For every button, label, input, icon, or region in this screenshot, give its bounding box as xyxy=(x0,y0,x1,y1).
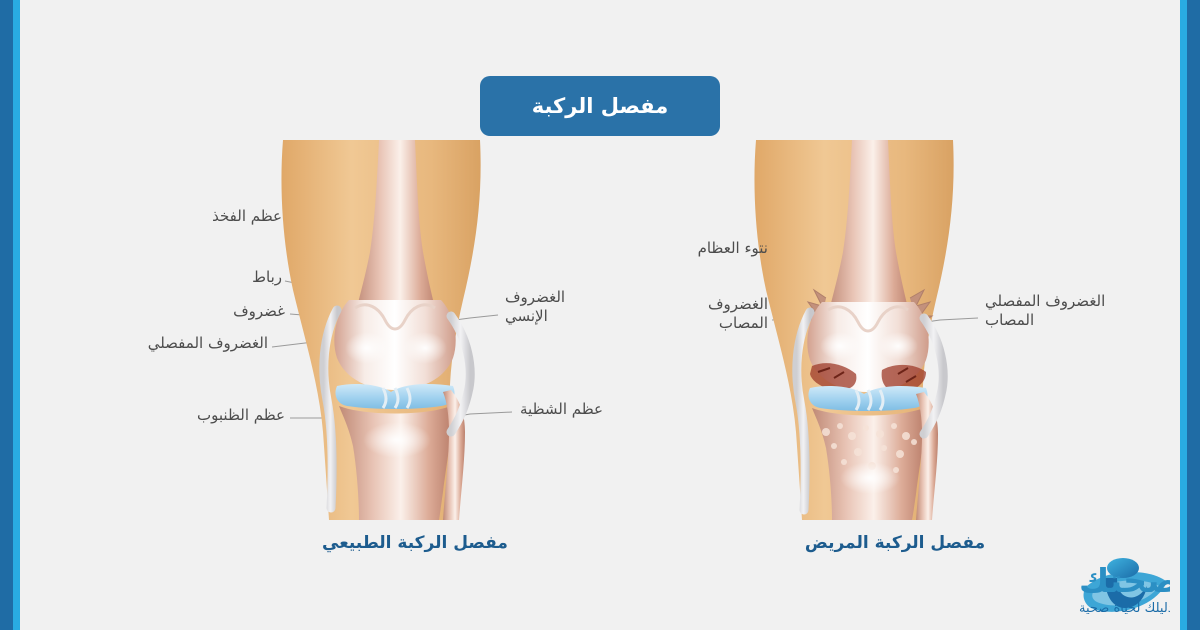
condyle-highlight-right xyxy=(403,332,447,364)
caption-normal-knee: مفصل الركبة الطبيعي xyxy=(265,533,565,553)
label-bone-spurs: نتوء العظام xyxy=(600,239,768,258)
label-tibia: عظم الظنبوب xyxy=(110,406,285,425)
page-title: مفصل الركبة xyxy=(480,76,720,136)
label-cartilage: غضروف xyxy=(110,302,285,321)
left-border-cyan xyxy=(13,0,20,630)
label-fibula: عظم الشظية xyxy=(520,400,660,419)
label-ligament: رباط xyxy=(110,268,282,287)
right-border-dark xyxy=(1187,0,1200,630)
label-femur: عظم الفخذ xyxy=(110,207,282,226)
caption-diseased-knee: مفصل الركبة المريض xyxy=(745,533,1045,553)
normal-knee-illustration xyxy=(275,140,515,520)
label-meniscus: الغضروف المفصلي xyxy=(80,334,268,353)
tibia-highlight xyxy=(840,462,900,494)
label-damaged-cartilage: الغضروف المصاب xyxy=(600,295,768,333)
label-damaged-meniscus: الغضروف المفصلي المصاب xyxy=(985,292,1145,330)
condyle-highlight-left xyxy=(345,332,389,364)
left-border-dark xyxy=(0,0,13,630)
diseased-knee-illustration xyxy=(748,140,988,520)
site-logo[interactable]: صحتك دليلك لحياة صحية xyxy=(955,552,1170,622)
condyle-highlight-right xyxy=(878,332,918,360)
logo-tagline: دليلك لحياة صحية xyxy=(1079,601,1170,616)
condyle-highlight-left xyxy=(820,332,860,360)
tibia-highlight xyxy=(363,422,431,458)
logo-wordmark: صحتك xyxy=(1079,561,1170,600)
infographic-page: مفصل الركبة xyxy=(0,0,1200,630)
page-title-text: مفصل الركبة xyxy=(532,94,669,118)
right-border-cyan xyxy=(1180,0,1187,630)
label-medial-cartilage: الغضروف الإنسي xyxy=(505,288,615,326)
